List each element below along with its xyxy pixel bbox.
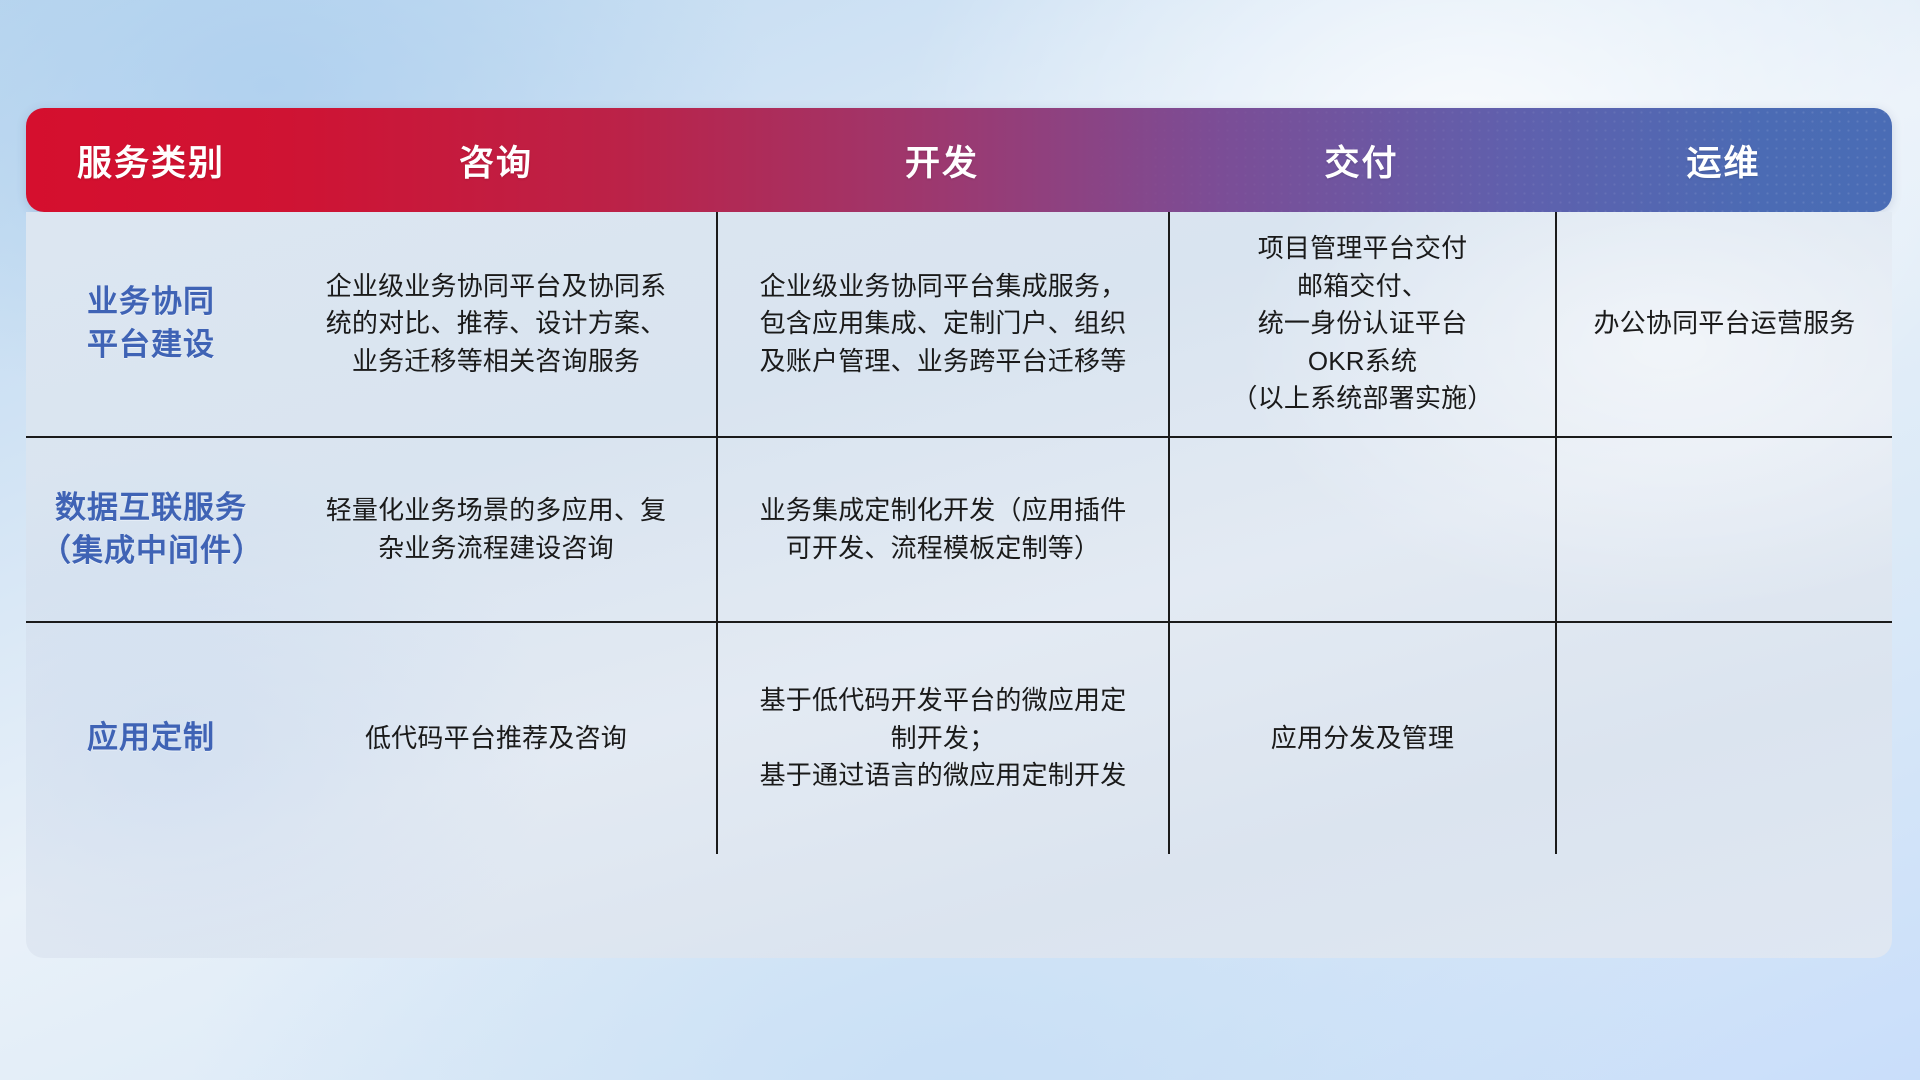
row-label-cell: 应用定制	[26, 623, 276, 854]
column-header-operations: 运维	[1555, 135, 1892, 186]
cell-text: 项目管理平台交付 邮箱交付、 统一身份认证平台 OKR系统 （以上系统部署实施）	[1231, 230, 1493, 417]
table-header-row: 服务类别 咨询 开发 交付 运维	[26, 108, 1892, 212]
cell-operations: 办公协同平台运营服务	[1555, 212, 1892, 436]
cell-consulting: 轻量化业务场景的多应用、复 杂业务流程建设咨询	[276, 438, 716, 621]
cell-text: 企业级业务协同平台及协同系 统的对比、推荐、设计方案、 业务迁移等相关咨询服务	[326, 268, 667, 380]
table-row: 业务协同 平台建设 企业级业务协同平台及协同系 统的对比、推荐、设计方案、 业务…	[26, 212, 1892, 436]
table-body: 业务协同 平台建设 企业级业务协同平台及协同系 统的对比、推荐、设计方案、 业务…	[26, 212, 1892, 958]
column-header-development: 开发	[716, 135, 1168, 186]
service-matrix-table: 服务类别 咨询 开发 交付 运维 业务协同 平台建设 企业级业务协同平台及协同系…	[26, 108, 1892, 958]
cell-development: 业务集成定制化开发（应用插件 可开发、流程模板定制等）	[716, 438, 1168, 621]
cell-text: 办公协同平台运营服务	[1593, 305, 1855, 342]
column-header-service-category: 服务类别	[26, 135, 276, 186]
column-header-consulting: 咨询	[276, 135, 716, 186]
column-header-delivery: 交付	[1168, 135, 1555, 186]
table-row: 应用定制 低代码平台推荐及咨询 基于低代码开发平台的微应用定 制开发； 基于通过…	[26, 621, 1892, 854]
cell-operations	[1555, 438, 1892, 621]
cell-text: 基于低代码开发平台的微应用定 制开发； 基于通过语言的微应用定制开发	[760, 682, 1127, 794]
cell-development: 企业级业务协同平台集成服务， 包含应用集成、定制门户、组织 及账户管理、业务跨平…	[716, 212, 1168, 436]
row-label-text: 应用定制	[87, 717, 215, 760]
cell-delivery: 应用分发及管理	[1168, 623, 1555, 854]
cell-delivery: 项目管理平台交付 邮箱交付、 统一身份认证平台 OKR系统 （以上系统部署实施）	[1168, 212, 1555, 436]
cell-operations	[1555, 623, 1892, 854]
row-label-cell: 数据互联服务 （集成中间件）	[26, 438, 276, 621]
slide-canvas: 服务类别 咨询 开发 交付 运维 业务协同 平台建设 企业级业务协同平台及协同系…	[0, 0, 1920, 1080]
cell-development: 基于低代码开发平台的微应用定 制开发； 基于通过语言的微应用定制开发	[716, 623, 1168, 854]
cell-consulting: 低代码平台推荐及咨询	[276, 623, 716, 854]
cell-text: 企业级业务协同平台集成服务， 包含应用集成、定制门户、组织 及账户管理、业务跨平…	[760, 268, 1127, 380]
row-label-text: 数据互联服务 （集成中间件）	[40, 487, 262, 573]
cell-text: 轻量化业务场景的多应用、复 杂业务流程建设咨询	[326, 492, 667, 567]
cell-consulting: 企业级业务协同平台及协同系 统的对比、推荐、设计方案、 业务迁移等相关咨询服务	[276, 212, 716, 436]
row-label-cell: 业务协同 平台建设	[26, 212, 276, 436]
cell-text: 应用分发及管理	[1271, 720, 1454, 757]
cell-delivery	[1168, 438, 1555, 621]
table-row: 数据互联服务 （集成中间件） 轻量化业务场景的多应用、复 杂业务流程建设咨询 业…	[26, 436, 1892, 621]
cell-text: 低代码平台推荐及咨询	[365, 720, 627, 757]
row-label-text: 业务协同 平台建设	[87, 281, 215, 367]
cell-text: 业务集成定制化开发（应用插件 可开发、流程模板定制等）	[760, 492, 1127, 567]
